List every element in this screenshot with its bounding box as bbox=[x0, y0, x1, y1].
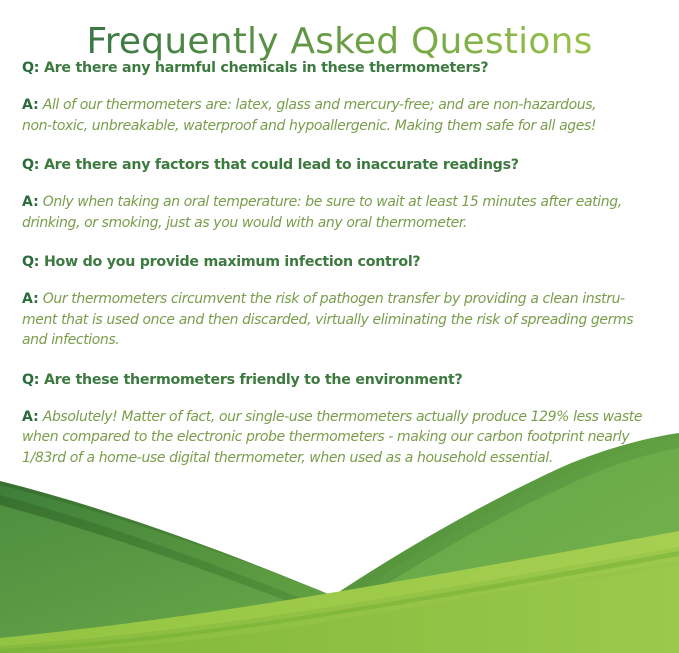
faq-question-text: How do you provide maximum infection con… bbox=[44, 254, 420, 270]
faq-item: Q: How do you provide maximum infection … bbox=[22, 252, 656, 351]
question-prefix: Q: bbox=[22, 157, 39, 173]
answer-prefix: A: bbox=[22, 194, 39, 210]
faq-answer-line: ment that is used once and then discarde… bbox=[22, 310, 656, 331]
faq-answer-line: and infections. bbox=[22, 330, 656, 351]
faq-answer-text: 1/83rd of a home-use digital thermometer… bbox=[22, 450, 553, 466]
faq-list: Q: Are there any harmful chemicals in th… bbox=[22, 58, 656, 487]
faq-question-text: Are there any harmful chemicals in these… bbox=[44, 60, 488, 76]
faq-answer-line: A: Only when taking an oral temperature:… bbox=[22, 192, 656, 213]
faq-question-text: Are these thermometers friendly to the e… bbox=[44, 372, 463, 388]
faq-answer-text: Only when taking an oral temperature: be… bbox=[43, 194, 622, 210]
faq-answer-line: A: Absolutely! Matter of fact, our singl… bbox=[22, 407, 656, 428]
faq-question: Q: How do you provide maximum infection … bbox=[22, 252, 656, 272]
question-prefix: Q: bbox=[22, 60, 39, 76]
faq-question: Q: Are these thermometers friendly to th… bbox=[22, 370, 656, 390]
question-prefix: Q: bbox=[22, 254, 39, 270]
question-prefix: Q: bbox=[22, 372, 39, 388]
faq-answer: A: Our thermometers circumvent the risk … bbox=[22, 289, 656, 351]
faq-answer-text: drinking, or smoking, just as you would … bbox=[22, 215, 467, 231]
faq-answer-text: ment that is used once and then discarde… bbox=[22, 312, 633, 328]
faq-answer-line: when compared to the electronic probe th… bbox=[22, 427, 656, 448]
faq-item: Q: Are there any factors that could lead… bbox=[22, 155, 656, 233]
answer-prefix: A: bbox=[22, 97, 39, 113]
faq-answer-text: and infections. bbox=[22, 332, 119, 348]
faq-page: Frequently Asked Questions Q: Are there … bbox=[0, 0, 679, 653]
faq-question: Q: Are there any factors that could lead… bbox=[22, 155, 656, 175]
faq-answer-text: non-toxic, unbreakable, waterproof and h… bbox=[22, 118, 596, 134]
faq-answer: A: Absolutely! Matter of fact, our singl… bbox=[22, 407, 656, 469]
faq-question: Q: Are there any harmful chemicals in th… bbox=[22, 58, 656, 78]
answer-prefix: A: bbox=[22, 291, 39, 307]
faq-answer: A: All of our thermometers are: latex, g… bbox=[22, 95, 656, 136]
faq-answer-line: 1/83rd of a home-use digital thermometer… bbox=[22, 448, 656, 469]
faq-answer-text: All of our thermometers are: latex, glas… bbox=[43, 97, 596, 113]
faq-question-text: Are there any factors that could lead to… bbox=[44, 157, 519, 173]
faq-answer-line: A: Our thermometers circumvent the risk … bbox=[22, 289, 656, 310]
faq-answer-text: Our thermometers circumvent the risk of … bbox=[43, 291, 625, 307]
answer-prefix: A: bbox=[22, 409, 39, 425]
faq-answer-text: Absolutely! Matter of fact, our single-u… bbox=[43, 409, 642, 425]
faq-item: Q: Are these thermometers friendly to th… bbox=[22, 370, 656, 469]
faq-answer-line: A: All of our thermometers are: latex, g… bbox=[22, 95, 656, 116]
faq-answer-line: drinking, or smoking, just as you would … bbox=[22, 213, 656, 234]
faq-answer-text: when compared to the electronic probe th… bbox=[22, 429, 629, 445]
faq-answer: A: Only when taking an oral temperature:… bbox=[22, 192, 656, 233]
faq-answer-line: non-toxic, unbreakable, waterproof and h… bbox=[22, 116, 656, 137]
faq-item: Q: Are there any harmful chemicals in th… bbox=[22, 58, 656, 136]
